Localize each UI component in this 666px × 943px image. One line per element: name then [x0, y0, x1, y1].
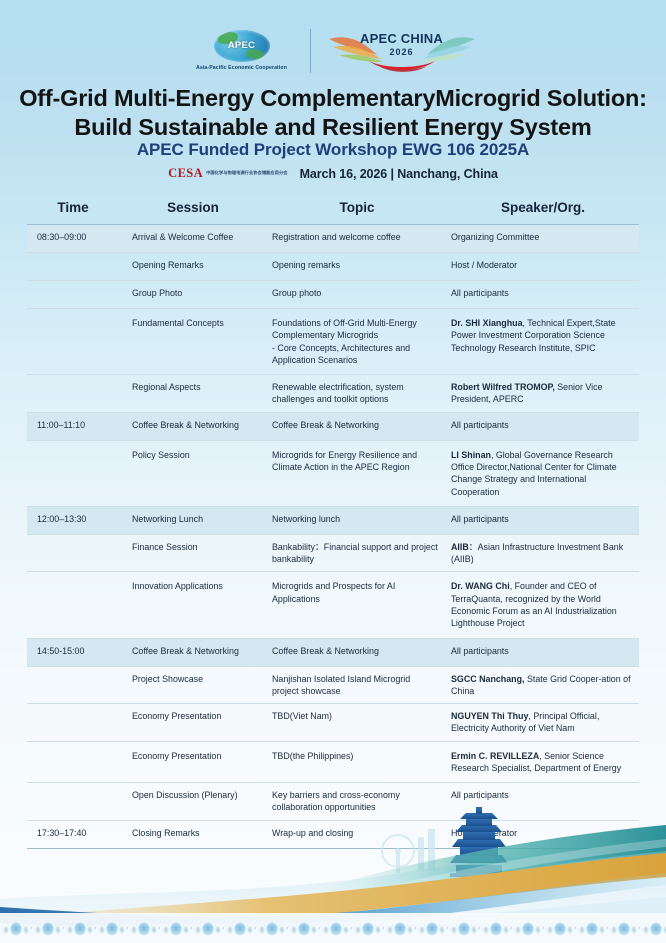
cesa-logo: CESA 中国化学与物理电源行业协会储能应用分会 — [168, 166, 287, 181]
agenda-cell-speaker: NGUYEN Thi Thuy, Principal Official, Ele… — [447, 704, 639, 741]
page-title-line1: Off-Grid Multi-Energy ComplementaryMicro… — [18, 84, 648, 113]
agenda-cell-session: Networking Lunch — [119, 507, 267, 534]
agenda-cell-speaker: Organizing Committee — [447, 225, 639, 252]
page-subtitle: APEC Funded Project Workshop EWG 106 202… — [0, 140, 666, 160]
agenda-row: Economy PresentationTBD(the Philippines)… — [27, 742, 639, 784]
agenda-cell-session: Economy Presentation — [119, 742, 267, 783]
agenda-cell-speaker: Ermin C. REVILLEZA, Senior Science Resea… — [447, 742, 639, 783]
agenda-cell-session: Project Showcase — [119, 667, 267, 704]
agenda-cell-speaker: AIIB：Asian Infrastructure Investment Ban… — [447, 535, 639, 572]
speaker-detail: Host / Moderator — [451, 260, 517, 270]
agenda-cell-topic: Bankability：Financial support and projec… — [267, 535, 447, 572]
page-title-line2: Build Sustainable and Resilient Energy S… — [18, 113, 648, 142]
speaker-name: AIIB — [451, 542, 469, 552]
agenda-row: 08:30–09:00Arrival & Welcome CoffeeRegis… — [27, 225, 639, 253]
logo-bar: APEC Asia-Pacific Economic Cooperation A… — [0, 22, 666, 80]
agenda-cell-session: Fundamental Concepts — [119, 309, 267, 374]
agenda-cell-speaker: Dr. SHI Xianghua, Technical Expert,State… — [447, 309, 639, 374]
agenda-row: Finance SessionBankability：Financial sup… — [27, 535, 639, 573]
speaker-name: SGCC Nanchang, — [451, 674, 524, 684]
agenda-cell-topic: Microgrids for Energy Resilience and Cli… — [267, 441, 447, 506]
agenda-header-row: Time Session Topic Speaker/Org. — [27, 200, 639, 225]
agenda-cell-time: 12:00–13:30 — [27, 507, 119, 534]
column-header-time: Time — [27, 200, 119, 215]
agenda-cell-speaker: LI Shinan, Global Governance Research Of… — [447, 441, 639, 506]
poster-root: APEC Asia-Pacific Economic Cooperation A… — [0, 0, 666, 943]
agenda-cell-time — [27, 253, 119, 280]
agenda-cell-topic: Opening remarks — [267, 253, 447, 280]
agenda-cell-time — [27, 742, 119, 783]
agenda-row: Opening RemarksOpening remarksHost / Mod… — [27, 253, 639, 281]
apec-logo: APEC Asia-Pacific Economic Cooperation — [190, 30, 294, 72]
agenda-row: Policy SessionMicrogrids for Energy Resi… — [27, 441, 639, 507]
agenda-row: Group PhotoGroup photoAll participants — [27, 281, 639, 309]
apec-china-year: 2026 — [389, 47, 413, 57]
speaker-detail: All participants — [451, 288, 509, 298]
agenda-cell-topic: Microgrids and Prospects for AI Applicat… — [267, 572, 447, 637]
agenda-cell-session: Innovation Applications — [119, 572, 267, 637]
apec-china-2026-logo: APEC CHINA 2026 — [327, 25, 477, 77]
logo-divider — [310, 29, 311, 73]
agenda-cell-time: 14:50-15:00 — [27, 639, 119, 666]
agenda-cell-topic: Group photo — [267, 281, 447, 308]
agenda-row: Economy PresentationTBD(Viet Nam)NGUYEN … — [27, 704, 639, 742]
agenda-cell-time — [27, 704, 119, 741]
agenda-cell-speaker: All participants — [447, 639, 639, 666]
agenda-cell-session: Arrival & Welcome Coffee — [119, 225, 267, 252]
agenda-cell-speaker: Host / Moderator — [447, 253, 639, 280]
agenda-cell-time — [27, 441, 119, 506]
agenda-cell-time — [27, 375, 119, 412]
event-date: March 16, 2026 | Nanchang, China — [300, 167, 498, 181]
speaker-detail: All participants — [451, 790, 509, 800]
agenda-cell-time — [27, 281, 119, 308]
agenda-cell-speaker: Robert Wilfred TROMOP, Senior Vice Presi… — [447, 375, 639, 412]
agenda-cell-session: Finance Session — [119, 535, 267, 572]
speaker-name: Ermin C. REVILLEZA — [451, 751, 539, 761]
agenda-cell-time — [27, 572, 119, 637]
agenda-cell-topic: Renewable electrification, system challe… — [267, 375, 447, 412]
agenda-cell-time — [27, 309, 119, 374]
speaker-name: Dr. SHI Xianghua — [451, 318, 523, 328]
column-header-topic: Topic — [267, 200, 447, 215]
agenda-cell-speaker: All participants — [447, 281, 639, 308]
agenda-row: 11:00–11:10Coffee Break & NetworkingCoff… — [27, 413, 639, 441]
event-meta-line: CESA 中国化学与物理电源行业协会储能应用分会 March 16, 2026 … — [0, 166, 666, 181]
agenda-cell-topic: Coffee Break & Networking — [267, 413, 447, 440]
speaker-detail: Organizing Committee — [451, 232, 539, 242]
agenda-row: Innovation ApplicationsMicrogrids and Pr… — [27, 572, 639, 638]
agenda-cell-topic: Foundations of Off-Grid Multi-Energy Com… — [267, 309, 447, 374]
bottom-decoration — [0, 803, 666, 943]
column-header-speaker: Speaker/Org. — [447, 200, 639, 215]
agenda-cell-topic: Registration and welcome coffee — [267, 225, 447, 252]
speaker-detail: ：Asian Infrastructure Investment Bank (A… — [451, 542, 623, 564]
agenda-cell-session: Coffee Break & Networking — [119, 639, 267, 666]
speaker-name: LI Shinan — [451, 450, 491, 460]
lotus-pattern-border — [0, 913, 666, 943]
apec-globe-icon: APEC — [214, 30, 270, 62]
agenda-cell-topic: TBD(Viet Nam) — [267, 704, 447, 741]
speaker-name: NGUYEN Thi Thuy — [451, 711, 528, 721]
agenda-cell-time — [27, 667, 119, 704]
agenda-row: 12:00–13:30Networking LunchNetworking lu… — [27, 507, 639, 535]
speaker-name: Dr. WANG Chi — [451, 581, 510, 591]
agenda-row: Regional AspectsRenewable electrificatio… — [27, 375, 639, 413]
speaker-detail: All participants — [451, 646, 509, 656]
agenda-cell-speaker: Dr. WANG Chi, Founder and CEO of TerraQu… — [447, 572, 639, 637]
agenda-cell-session: Coffee Break & Networking — [119, 413, 267, 440]
agenda-cell-session: Opening Remarks — [119, 253, 267, 280]
apec-logo-tagline: Asia-Pacific Economic Cooperation — [196, 65, 287, 72]
agenda-cell-topic: TBD(the Philippines) — [267, 742, 447, 783]
agenda-cell-time: 11:00–11:10 — [27, 413, 119, 440]
agenda-cell-speaker: All participants — [447, 413, 639, 440]
agenda-table: Time Session Topic Speaker/Org. 08:30–09… — [27, 200, 639, 849]
speaker-detail: All participants — [451, 514, 509, 524]
agenda-row: 14:50-15:00Coffee Break & NetworkingCoff… — [27, 639, 639, 667]
agenda-row: Fundamental ConceptsFoundations of Off-G… — [27, 309, 639, 375]
agenda-cell-time: 08:30–09:00 — [27, 225, 119, 252]
agenda-cell-session: Group Photo — [119, 281, 267, 308]
agenda-cell-speaker: SGCC Nanchang, State Grid Cooper-ation o… — [447, 667, 639, 704]
cesa-chinese-text: 中国化学与物理电源行业协会储能应用分会 — [206, 171, 287, 176]
agenda-cell-topic: Coffee Break & Networking — [267, 639, 447, 666]
cesa-logo-mark: CESA — [168, 166, 203, 181]
agenda-row: Project ShowcaseNanjishan Isolated Islan… — [27, 667, 639, 705]
agenda-cell-speaker: All participants — [447, 507, 639, 534]
agenda-cell-session: Regional Aspects — [119, 375, 267, 412]
agenda-body: 08:30–09:00Arrival & Welcome CoffeeRegis… — [27, 225, 639, 849]
column-header-session: Session — [119, 200, 267, 215]
agenda-cell-session: Policy Session — [119, 441, 267, 506]
agenda-cell-session: Economy Presentation — [119, 704, 267, 741]
page-title: Off-Grid Multi-Energy ComplementaryMicro… — [18, 84, 648, 142]
agenda-cell-topic: Networking lunch — [267, 507, 447, 534]
speaker-name: Robert Wilfred TROMOP, — [451, 382, 555, 392]
apec-logo-mark: APEC — [228, 40, 256, 51]
agenda-cell-time — [27, 535, 119, 572]
agenda-cell-topic: Nanjishan Isolated Island Microgrid proj… — [267, 667, 447, 704]
apec-china-name: APEC CHINA — [360, 31, 443, 46]
speaker-detail: All participants — [451, 420, 509, 430]
